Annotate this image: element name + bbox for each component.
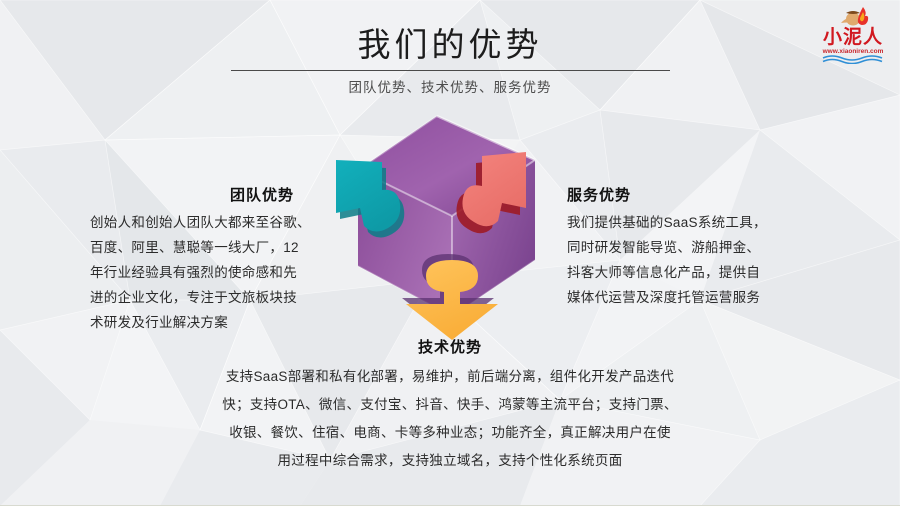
team-line: 进的企业文化，专注于文旅板块技 [90, 285, 318, 310]
service-line: 媒体代运营及深度托管运营服务 [567, 285, 799, 310]
tech-line: 收银、餐饮、住宿、电商、卡等多种业态；功能齐全，真正解决用户在使 [0, 419, 900, 447]
service-block-heading: 服务优势 [567, 184, 631, 205]
slide-canvas: 我们的优势 团队优势、技术优势、服务优势 小泥人 www.xiaoniren.c… [0, 0, 900, 506]
team-line: 创始人和创始人团队大都来至谷歌、 [90, 210, 318, 235]
page-subtitle: 团队优势、技术优势、服务优势 [0, 76, 900, 96]
page-title: 我们的优势 [0, 18, 900, 66]
service-line: 抖客大师等信息化产品，提供自 [567, 260, 799, 285]
tech-line: 用过程中综合需求，支持独立域名，支持个性化系统页面 [0, 447, 900, 475]
tech-line: 快；支持OTA、微信、支付宝、抖音、快手、鸿蒙等主流平台；支持门票、 [0, 391, 900, 419]
brand-logo[interactable]: 小泥人 www.xiaoniren.com [814, 6, 892, 64]
service-block-body: 我们提供基础的SaaS系统工具， 同时研发智能导览、游船押金、 抖客大师等信息化… [567, 210, 799, 310]
flame-icon [856, 7, 870, 25]
logo-wordmark: 小泥人 [814, 28, 892, 48]
tech-line: 支持SaaS部署和私有化部署，易维护，前后端分离，组件化开发产品迭代 [0, 363, 900, 391]
team-line: 年行业经验具有强烈的使命感和先 [90, 260, 318, 285]
team-block-heading: 团队优势 [230, 184, 294, 205]
team-line: 百度、阿里、慧聪等一线大厂，12 [90, 235, 318, 260]
title-divider [231, 70, 670, 71]
tech-block-heading: 技术优势 [0, 336, 900, 357]
service-line: 我们提供基础的SaaS系统工具， [567, 210, 799, 235]
wave-icon [822, 54, 884, 64]
slide-header: 我们的优势 团队优势、技术优势、服务优势 [0, 0, 900, 105]
tech-block-body: 支持SaaS部署和私有化部署，易维护，前后端分离，组件化开发产品迭代 快；支持O… [0, 363, 900, 475]
team-block-body: 创始人和创始人团队大都来至谷歌、 百度、阿里、慧聪等一线大厂，12 年行业经验具… [90, 210, 318, 335]
team-line: 术研发及行业解决方案 [90, 310, 318, 335]
service-line: 同时研发智能导览、游船押金、 [567, 235, 799, 260]
cube-graphic [330, 108, 575, 348]
